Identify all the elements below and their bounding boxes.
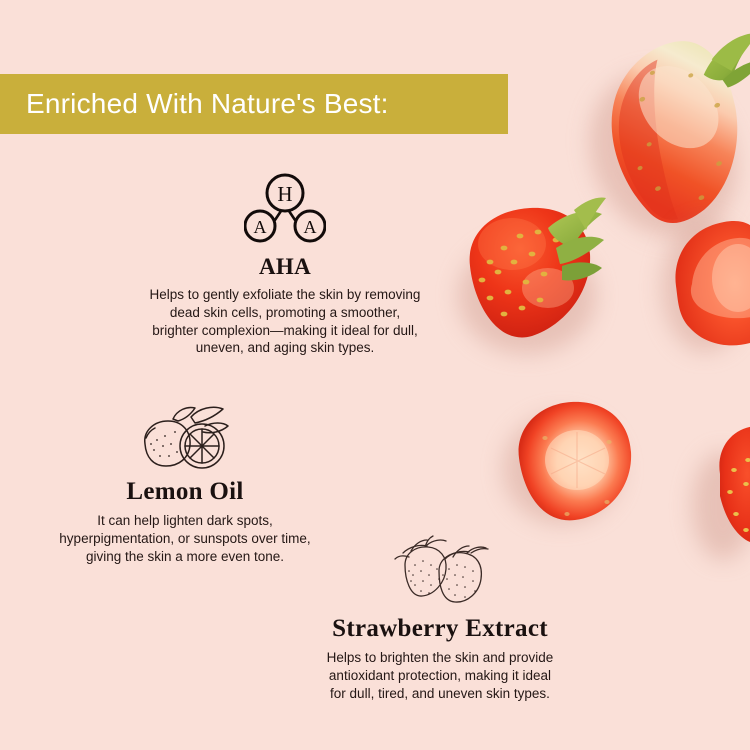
ingredient-aha: H A A AHA Helps to gently exfoliate the … <box>120 172 450 357</box>
aha-icon-label-a-right: A <box>304 217 317 237</box>
ingredient-lemon-oil-title: Lemon Oil <box>25 478 345 506</box>
aha-icon-label-h: H <box>277 182 292 206</box>
poster-canvas: Enriched With Nature's Best: H A A AHA H… <box>0 0 750 750</box>
aha-icon-label-a-left: A <box>254 217 267 237</box>
ingredient-strawberry-extract-description: Helps to brighten the skin and provide a… <box>275 649 605 702</box>
lemon-icon <box>139 402 231 470</box>
banner-title: Enriched With Nature's Best: <box>0 88 389 120</box>
ingredient-strawberry-extract: Strawberry Extract Helps to brighten the… <box>275 535 605 702</box>
strawberry-slice-lower-photo <box>505 392 640 532</box>
ingredient-aha-title: AHA <box>120 254 450 280</box>
whole-strawberry-far-right-edge-photo <box>706 422 750 562</box>
whole-strawberry-middle-photo <box>452 192 612 362</box>
aha-molecule-icon: H A A <box>244 172 326 244</box>
cut-strawberry-right-edge-photo <box>668 198 750 363</box>
strawberry-line-icon <box>389 535 491 607</box>
ingredient-strawberry-extract-title: Strawberry Extract <box>275 615 605 643</box>
ingredient-aha-description: Helps to gently exfoliate the skin by re… <box>120 286 450 357</box>
banner: Enriched With Nature's Best: <box>0 74 508 134</box>
